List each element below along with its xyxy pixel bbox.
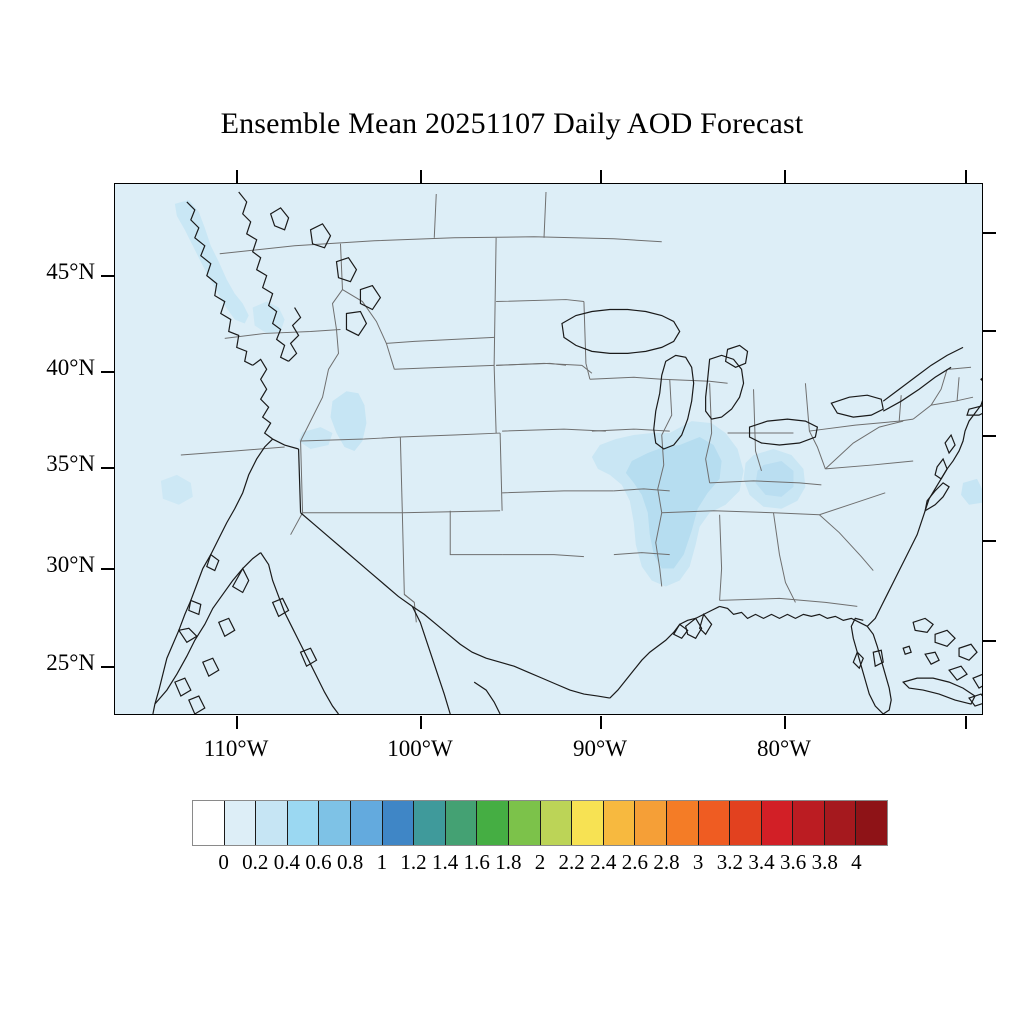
- colorbar-tick-3: 0.6: [305, 850, 331, 875]
- colorbar-cell-20: [825, 801, 857, 845]
- colorbar-tick-19: 3.8: [812, 850, 838, 875]
- axis-tick-right-25n: [983, 640, 996, 642]
- colorbar-cell-9: [477, 801, 509, 845]
- colorbar-cell-1: [225, 801, 257, 845]
- colorbar-tick-20: 4: [851, 850, 862, 875]
- colorbar-cell-12: [572, 801, 604, 845]
- colorbar-cell-5: [351, 801, 383, 845]
- axis-tick-right-40n: [983, 330, 996, 332]
- colorbar-swatches: [192, 800, 888, 846]
- axis-tick-top-90w: [600, 170, 602, 183]
- colorbar-cell-19: [793, 801, 825, 845]
- axis-tick-bottom-100w: [420, 716, 422, 729]
- colorbar-tick-14: 2.8: [653, 850, 679, 875]
- colorbar-cell-2: [256, 801, 288, 845]
- colorbar-tick-8: 1.6: [464, 850, 490, 875]
- colorbar-cell-0: [193, 801, 225, 845]
- lat-label-45n: 45°N: [0, 259, 95, 285]
- lon-label-110w: 110°W: [166, 736, 306, 762]
- axis-tick-top-70w: [965, 170, 967, 183]
- axis-tick-left-45n: [101, 275, 114, 277]
- axis-tick-top-80w: [784, 170, 786, 183]
- axis-tick-top-110w: [236, 170, 238, 183]
- colorbar-tick-16: 3.2: [717, 850, 743, 875]
- lon-label-100w: 100°W: [350, 736, 490, 762]
- colorbar-tick-13: 2.6: [622, 850, 648, 875]
- lon-label-90w: 90°W: [530, 736, 670, 762]
- colorbar-tick-12: 2.4: [590, 850, 616, 875]
- colorbar-tick-10: 2: [535, 850, 546, 875]
- colorbar-tick-5: 1: [377, 850, 388, 875]
- lat-label-35n: 35°N: [0, 451, 95, 477]
- colorbar-tick-4: 0.8: [337, 850, 363, 875]
- colorbar-tick-2: 0.4: [274, 850, 300, 875]
- axis-tick-right-30n: [983, 540, 996, 542]
- lat-label-30n: 30°N: [0, 552, 95, 578]
- lat-label-25n: 25°N: [0, 650, 95, 676]
- colorbar-tick-0: 0: [218, 850, 229, 875]
- colorbar-tick-7: 1.4: [432, 850, 458, 875]
- colorbar-tick-11: 2.2: [559, 850, 585, 875]
- colorbar-cell-17: [730, 801, 762, 845]
- axis-tick-top-100w: [420, 170, 422, 183]
- colorbar-tick-1: 0.2: [242, 850, 268, 875]
- colorbar-cell-13: [604, 801, 636, 845]
- colorbar-tick-9: 1.8: [495, 850, 521, 875]
- axis-tick-bottom-110w: [236, 716, 238, 729]
- colorbar-cell-4: [319, 801, 351, 845]
- map-plot-area[interactable]: [114, 183, 983, 715]
- lon-label-80w: 80°W: [714, 736, 854, 762]
- colorbar-cell-11: [541, 801, 573, 845]
- colorbar-cell-8: [446, 801, 478, 845]
- colorbar-tick-17: 3.4: [748, 850, 774, 875]
- axis-tick-left-35n: [101, 467, 114, 469]
- axis-tick-left-40n: [101, 371, 114, 373]
- colorbar-tick-6: 1.2: [400, 850, 426, 875]
- axis-tick-bottom-70w: [965, 716, 967, 729]
- colorbar-cell-6: [383, 801, 415, 845]
- axis-tick-left-25n: [101, 666, 114, 668]
- axis-tick-left-30n: [101, 568, 114, 570]
- lat-label-40n: 40°N: [0, 355, 95, 381]
- colorbar[interactable]: 00.20.40.60.811.21.41.61.822.22.42.62.83…: [192, 800, 888, 846]
- axis-tick-bottom-80w: [784, 716, 786, 729]
- page-title: Ensemble Mean 20251107 Daily AOD Forecas…: [0, 107, 1024, 141]
- colorbar-tick-18: 3.6: [780, 850, 806, 875]
- colorbar-tick-labels: 00.20.40.60.811.21.41.61.822.22.42.62.83…: [192, 850, 888, 880]
- colorbar-cell-7: [414, 801, 446, 845]
- colorbar-cell-15: [667, 801, 699, 845]
- colorbar-cell-14: [635, 801, 667, 845]
- map-background: [115, 184, 982, 714]
- axis-tick-right-35n: [983, 435, 996, 437]
- axis-tick-bottom-90w: [600, 716, 602, 729]
- figure-root: Ensemble Mean 20251107 Daily AOD Forecas…: [0, 0, 1024, 1024]
- colorbar-cell-18: [762, 801, 794, 845]
- map-geometry: [115, 184, 982, 714]
- colorbar-cell-10: [509, 801, 541, 845]
- colorbar-cell-3: [288, 801, 320, 845]
- colorbar-cell-16: [699, 801, 731, 845]
- colorbar-cell-21: [856, 801, 887, 845]
- colorbar-tick-15: 3: [693, 850, 704, 875]
- axis-tick-right-45n: [983, 232, 996, 234]
